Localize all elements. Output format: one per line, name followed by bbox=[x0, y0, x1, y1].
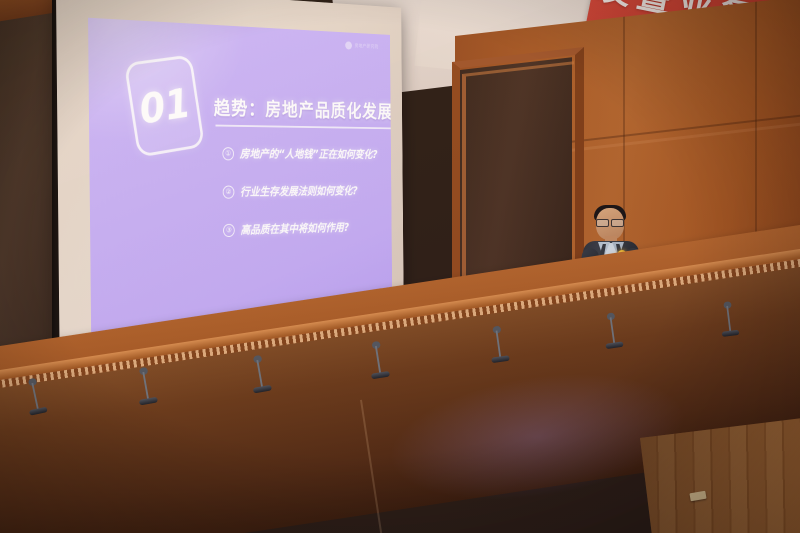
title-underline bbox=[215, 125, 392, 129]
slide-title: 趋势：房地产品质化发展时代的到来 bbox=[214, 93, 393, 125]
list-item: ① 房地产的“人地钱”正在如何变化? bbox=[222, 145, 376, 161]
list-item: ② 行业生存发展法则如何变化? bbox=[223, 183, 377, 200]
bullet-marker-icon: ② bbox=[223, 185, 235, 198]
logo-mark-icon bbox=[345, 41, 352, 49]
bullet-text: 房地产的“人地钱”正在如何变化? bbox=[240, 145, 378, 161]
bullet-marker-icon: ③ bbox=[223, 223, 235, 236]
logo-text: 房地产研究院 bbox=[355, 43, 379, 50]
bullet-marker-icon: ① bbox=[222, 147, 234, 160]
list-item: ③ 高品质在其中将如何作用? bbox=[223, 219, 377, 239]
bullet-text: 高品质在其中将如何作用? bbox=[240, 219, 349, 237]
slide-logo: 房地产研究院 bbox=[345, 41, 379, 51]
slide-bullet-list: ① 房地产的“人地钱”正在如何变化? ② 行业生存发展法则如何变化? ③ 高品质… bbox=[222, 145, 377, 260]
bullet-text: 行业生存发展法则如何变化? bbox=[240, 183, 358, 200]
glasses-icon bbox=[596, 219, 624, 225]
slide-number-tile: 01 bbox=[124, 54, 205, 157]
slide-number-text: 01 bbox=[136, 79, 193, 133]
conference-hall-photo: 发暨业务培训会 01 趋势：房地产品质化发展时代的到来 ① 房地产的“人地钱”正… bbox=[0, 0, 800, 533]
